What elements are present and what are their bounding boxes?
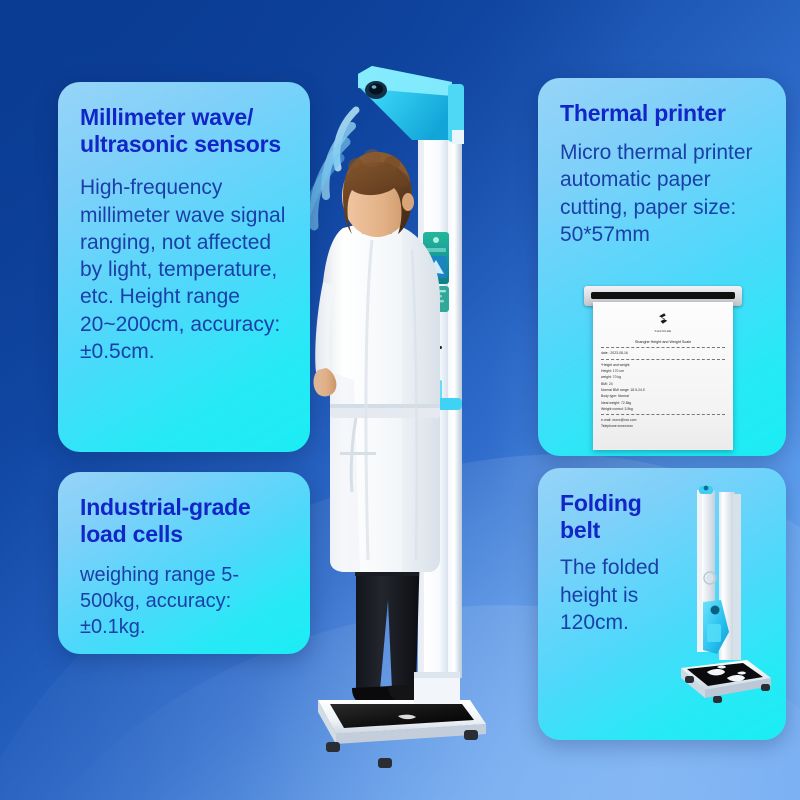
receipt-telephone: Telephone:xxxxxxxxx [601,423,725,429]
printed-receipt: SHANGHE Shanghe Height and Weight Scale … [593,302,733,450]
card-title-load-cells-line2: load cells [80,521,183,547]
feature-card-sensors: Millimeter wave/ ultrasonic sensors High… [58,82,310,452]
feature-card-thermal-printer: Thermal printer Micro thermal printer au… [538,78,786,456]
card-body-printer: Micro thermal printer automatic paper cu… [560,139,766,248]
infographic-canvas: Millimeter wave/ ultrasonic sensors High… [0,0,800,800]
card-title-sensors-line2: ultrasonic sensors [80,131,281,157]
card-title-load-cells: Industrial-grade load cells [80,494,290,548]
card-title-folding-line1: Folding [560,490,642,516]
card-title-printer: Thermal printer [560,100,766,127]
receipt-divider [601,414,725,415]
card-title-sensors: Millimeter wave/ ultrasonic sensors [80,104,290,158]
folded-machine-graphic [673,482,778,722]
receipt-divider [601,359,725,360]
receipt-brand: SHANGHE [601,329,725,335]
card-body-sensors: High-frequency millimeter wave signal ra… [80,174,290,365]
receipt-line: Weight control: 3.5kg [601,406,725,412]
receipt-logo-icon [601,311,725,328]
feature-card-folding-belt: Folding belt The folded height is 120cm. [538,468,786,740]
card-title-load-cells-line1: Industrial-grade [80,494,251,520]
receipt-title: Shanghe Height and Weight Scale [601,339,725,346]
feature-card-load-cells: Industrial-grade load cells weighing ran… [58,472,310,654]
thermal-printer-graphic: SHANGHE Shanghe Height and Weight Scale … [584,286,742,446]
card-title-sensors-line1: Millimeter wave/ [80,104,253,130]
card-title-folding-line2: belt [560,517,600,543]
receipt-divider [601,347,725,348]
receipt-date: date : 2023-08-16 [601,350,725,356]
card-body-load-cells: weighing range 5-500kg, accuracy: ±0.1kg… [80,562,290,640]
